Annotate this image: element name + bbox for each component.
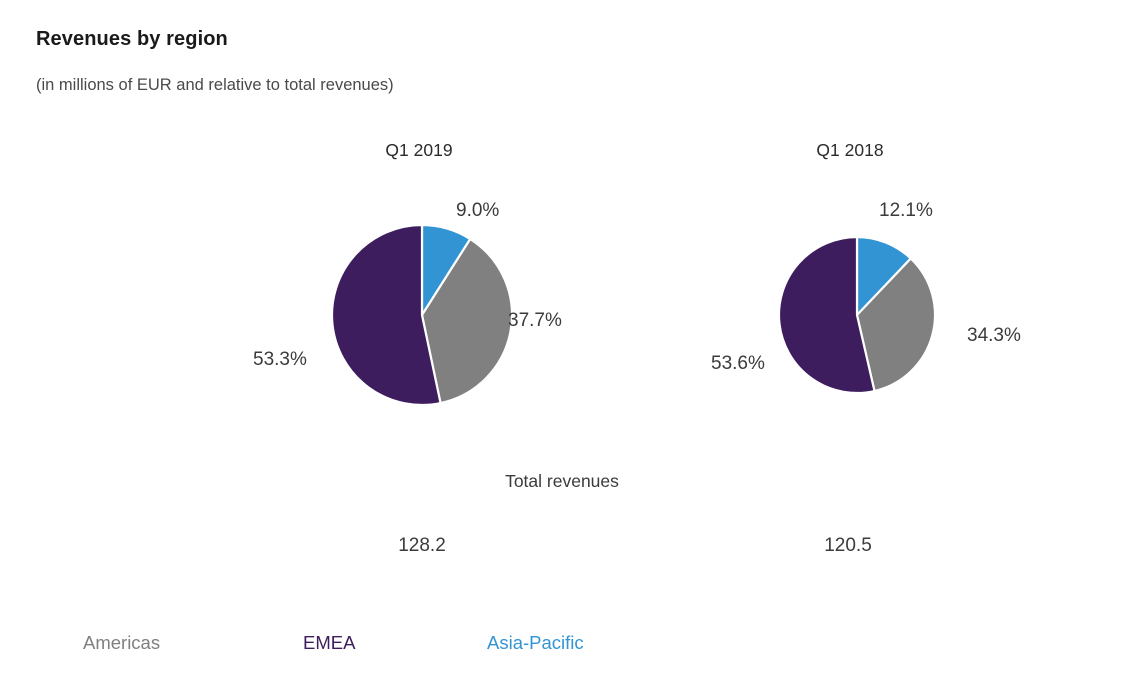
total-revenues-label: Total revenues — [0, 471, 1124, 492]
legend-item-asia-pacific[interactable]: Asia-Pacific — [487, 632, 584, 654]
total-value-q1-2018: 120.5 — [788, 535, 908, 557]
page-title: Revenues by region — [36, 28, 228, 51]
slice-label-0-0: 9.0% — [456, 200, 499, 222]
pie-chart-q1-2018 — [779, 237, 935, 393]
pie-title-1: Q1 2018 — [790, 140, 910, 161]
pie-title-0: Q1 2019 — [359, 140, 479, 161]
total-value-q1-2019: 128.2 — [362, 535, 482, 557]
slice-label-0-2: 53.3% — [253, 349, 307, 371]
slice-label-1-0: 12.1% — [879, 200, 933, 222]
page-subtitle: (in millions of EUR and relative to tota… — [36, 76, 394, 95]
slice-label-1-2: 53.6% — [711, 353, 765, 375]
legend-item-americas[interactable]: Americas — [83, 632, 160, 654]
legend: Americas EMEA Asia-Pacific — [0, 632, 1124, 666]
slice-label-1-1: 34.3% — [967, 325, 1021, 347]
slice-label-0-1: 37.7% — [508, 310, 562, 332]
pie-chart-q1-2019 — [332, 225, 512, 405]
legend-item-emea[interactable]: EMEA — [303, 632, 355, 654]
pie-svg-1 — [779, 237, 935, 393]
pie-svg-0 — [332, 225, 512, 405]
